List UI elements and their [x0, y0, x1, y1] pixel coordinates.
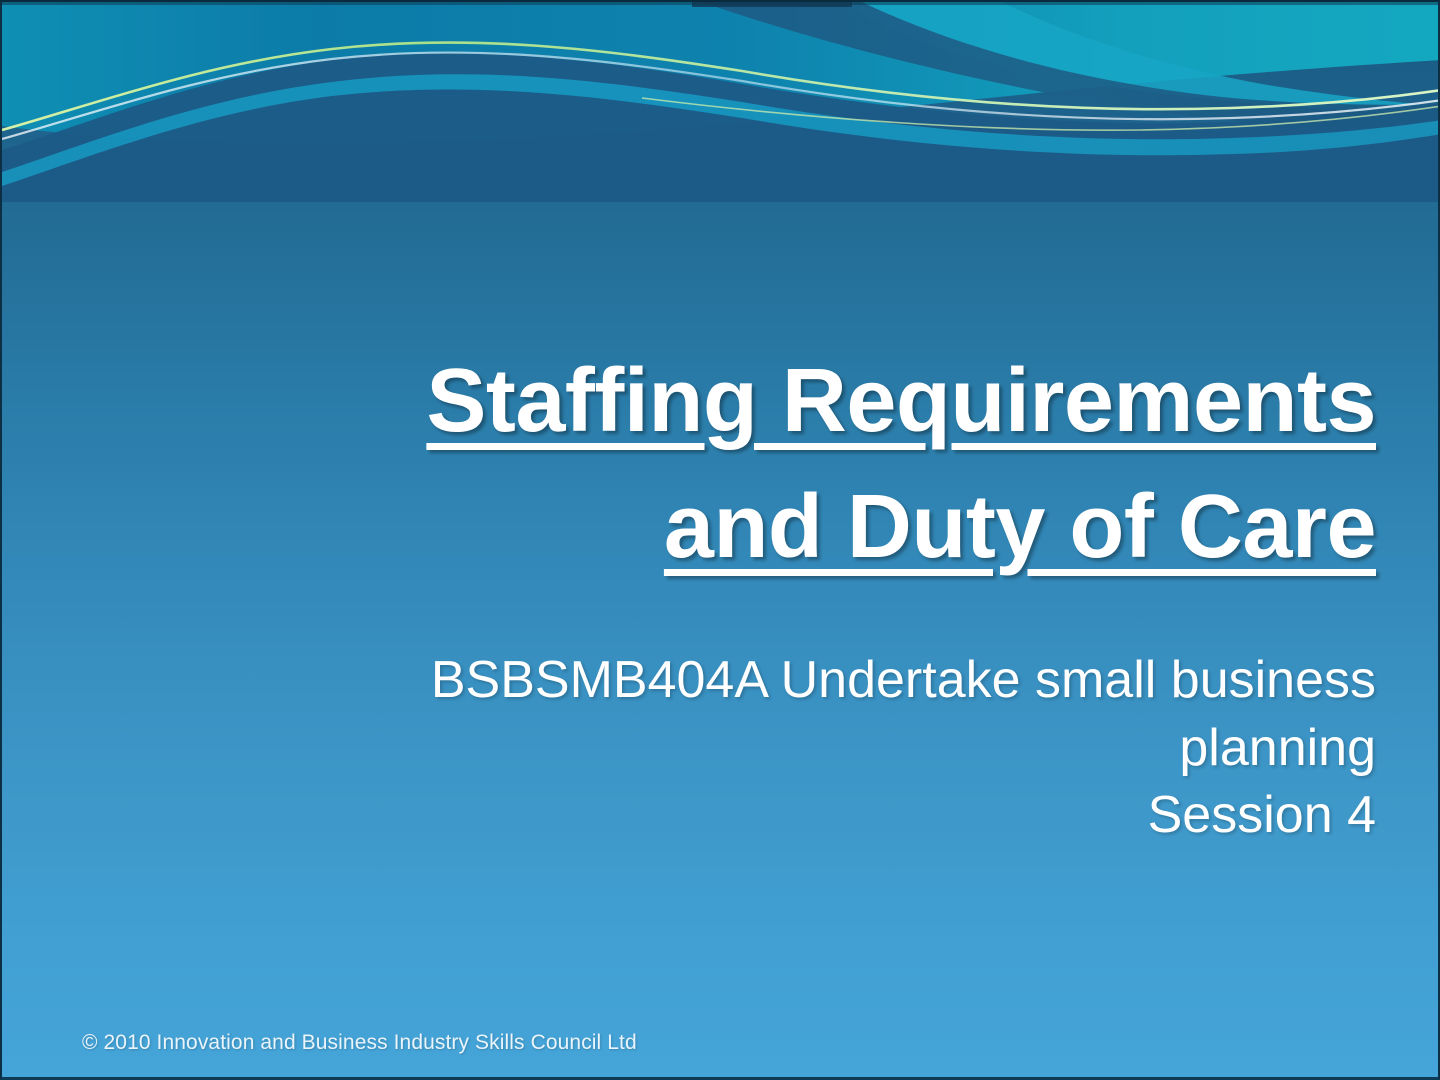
- slide-title-line-2: and Duty of Care: [122, 464, 1376, 590]
- wave-top-band: [2, 2, 1440, 143]
- wave-graphic: [2, 2, 1440, 202]
- top-edge-notch: [692, 2, 852, 7]
- slide-title: Staffing Requirements and Duty of Care: [122, 338, 1376, 590]
- slide-subtitle: BSBSMB404A Undertake small business plan…: [122, 647, 1376, 850]
- slide-title-line-1: Staffing Requirements: [122, 338, 1376, 464]
- decorative-wave-banner: [2, 2, 1440, 202]
- copyright-footer: © 2010 Innovation and Business Industry …: [82, 1031, 637, 1055]
- slide-title-line-2-text: and Duty of Care: [664, 477, 1376, 577]
- wave-dark-hump: [2, 54, 1440, 202]
- wave-white-hairline: [2, 53, 1440, 139]
- presentation-slide: Staffing Requirements and Duty of Care B…: [0, 0, 1440, 1080]
- slide-title-line-1-text: Staffing Requirements: [426, 351, 1376, 451]
- wave-teal-underlayer: [2, 74, 1440, 186]
- wave-dark-diagonal: [702, 2, 1440, 128]
- slide-subtitle-line-1: BSBSMB404A Undertake small business: [122, 647, 1376, 715]
- wave-teal-right: [842, 2, 1440, 114]
- wave-green-hairline: [2, 43, 1440, 130]
- slide-subtitle-line-3: Session 4: [122, 782, 1376, 850]
- slide-subtitle-line-2: planning: [122, 715, 1376, 783]
- wave-green-hairline-secondary: [642, 98, 1440, 130]
- top-edge-strip: [2, 2, 1440, 5]
